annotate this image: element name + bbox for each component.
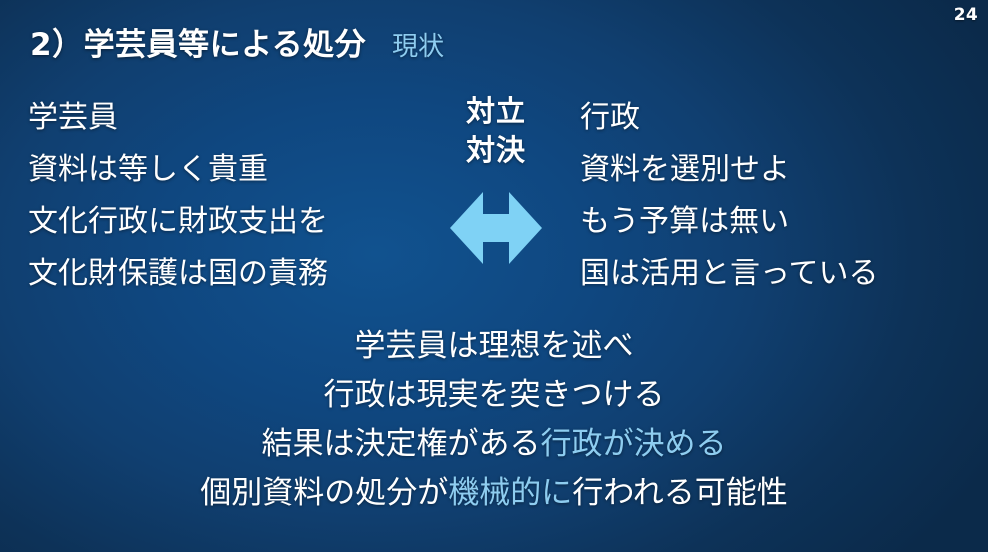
- plain-text: 行政は現実を突きつける: [324, 377, 665, 413]
- slide-title: 2）学芸員等による処分 現状: [30, 19, 444, 64]
- conflict-word-bottom: 対決: [432, 131, 560, 170]
- conflict-word-top: 対立: [432, 92, 560, 131]
- arrow-container: [432, 186, 560, 270]
- curator-column: 学芸員 資料は等しく貴重 文化行政に財政支出を 文化財保護は国の責務: [28, 92, 428, 300]
- conclusion-section: 学芸員は理想を述べ 行政は現実を突きつける 結果は決定権がある行政が決める 個別…: [0, 322, 988, 518]
- government-column: 行政 資料を選別せよ もう予算は無い 国は活用と言っている: [580, 92, 985, 300]
- conflict-marker: 対立 対決: [432, 92, 560, 270]
- conclusion-line: 個別資料の処分が機械的に行われる可能性: [0, 469, 988, 518]
- highlighted-text: 機械的に: [448, 475, 572, 511]
- slide-title-subtitle: 現状: [392, 26, 444, 63]
- plain-text: 学芸員は理想を述べ: [355, 328, 634, 364]
- curator-line: 学芸員: [28, 92, 428, 144]
- presentation-slide: 24 2）学芸員等による処分 現状 学芸員 資料は等しく貴重 文化行政に財政支出…: [0, 0, 988, 552]
- double-headed-horizontal-arrow-icon: [450, 186, 542, 270]
- comparison-section: 学芸員 資料は等しく貴重 文化行政に財政支出を 文化財保護は国の責務 対立 対決…: [0, 92, 988, 310]
- page-number: 24: [954, 5, 978, 25]
- curator-line: 資料は等しく貴重: [28, 144, 428, 196]
- conclusion-line: 行政は現実を突きつける: [0, 371, 988, 420]
- government-line: もう予算は無い: [580, 196, 985, 248]
- government-line: 国は活用と言っている: [580, 248, 985, 300]
- plain-text: 結果は決定権がある: [262, 426, 541, 462]
- government-line: 資料を選別せよ: [580, 144, 985, 196]
- curator-line: 文化行政に財政支出を: [28, 196, 428, 248]
- conclusion-line: 学芸員は理想を述べ: [0, 322, 988, 371]
- highlighted-text: 行政が決める: [541, 426, 727, 462]
- plain-text: 行われる可能性: [572, 475, 787, 511]
- slide-title-main: 2）学芸員等による処分: [30, 19, 366, 64]
- conclusion-line: 結果は決定権がある行政が決める: [0, 420, 988, 469]
- government-line: 行政: [580, 92, 985, 144]
- curator-line: 文化財保護は国の責務: [28, 248, 428, 300]
- plain-text: 個別資料の処分が: [200, 475, 448, 511]
